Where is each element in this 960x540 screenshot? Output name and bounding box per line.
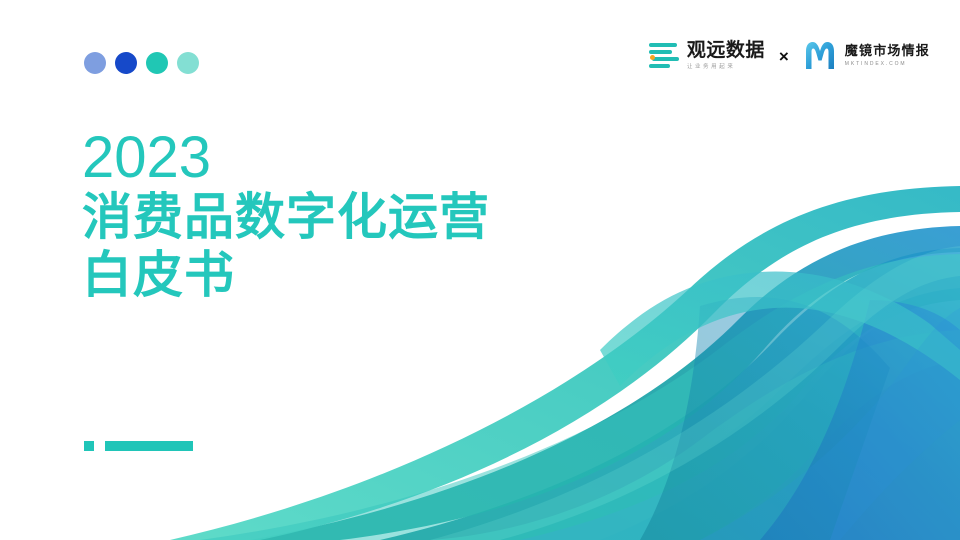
primary-logo: 观远数据 让业务用起来 xyxy=(649,41,765,72)
title-line-2: 白皮书 xyxy=(82,246,490,304)
secondary-logo-text: 魔镜市场情报 MKTINDEX.COM xyxy=(845,44,930,68)
accent-rule xyxy=(84,441,193,451)
secondary-logo: 魔镜市场情报 MKTINDEX.COM xyxy=(803,40,930,72)
accent-square xyxy=(84,441,94,451)
title-year: 2023 xyxy=(82,128,490,188)
primary-logo-text: 观远数据 让业务用起来 xyxy=(687,41,765,72)
logo-separator-x: × xyxy=(779,48,789,65)
guanyuan-bars-icon xyxy=(649,41,679,71)
accent-bar xyxy=(105,441,193,451)
primary-logo-name: 观远数据 xyxy=(687,41,765,61)
decor-dot-1 xyxy=(84,52,106,74)
mktindex-m-icon xyxy=(803,40,837,72)
secondary-logo-name: 魔镜市场情报 xyxy=(845,44,930,58)
title-line-1: 消费品数字化运营 xyxy=(82,188,490,246)
secondary-logo-subtitle: MKTINDEX.COM xyxy=(845,60,930,68)
cover-slide: 观远数据 让业务用起来 × 魔镜市场情报 MKTINDEX.COM xyxy=(0,0,960,540)
decor-dot-2 xyxy=(115,52,137,74)
cover-title-block: 2023 消费品数字化运营 白皮书 xyxy=(82,128,490,304)
decor-dot-4 xyxy=(177,52,199,74)
logo-bar: 观远数据 让业务用起来 × 魔镜市场情报 MKTINDEX.COM xyxy=(649,40,930,72)
primary-logo-tagline: 让业务用起来 xyxy=(687,63,765,72)
decor-dot-row xyxy=(84,52,199,74)
decor-dot-3 xyxy=(146,52,168,74)
